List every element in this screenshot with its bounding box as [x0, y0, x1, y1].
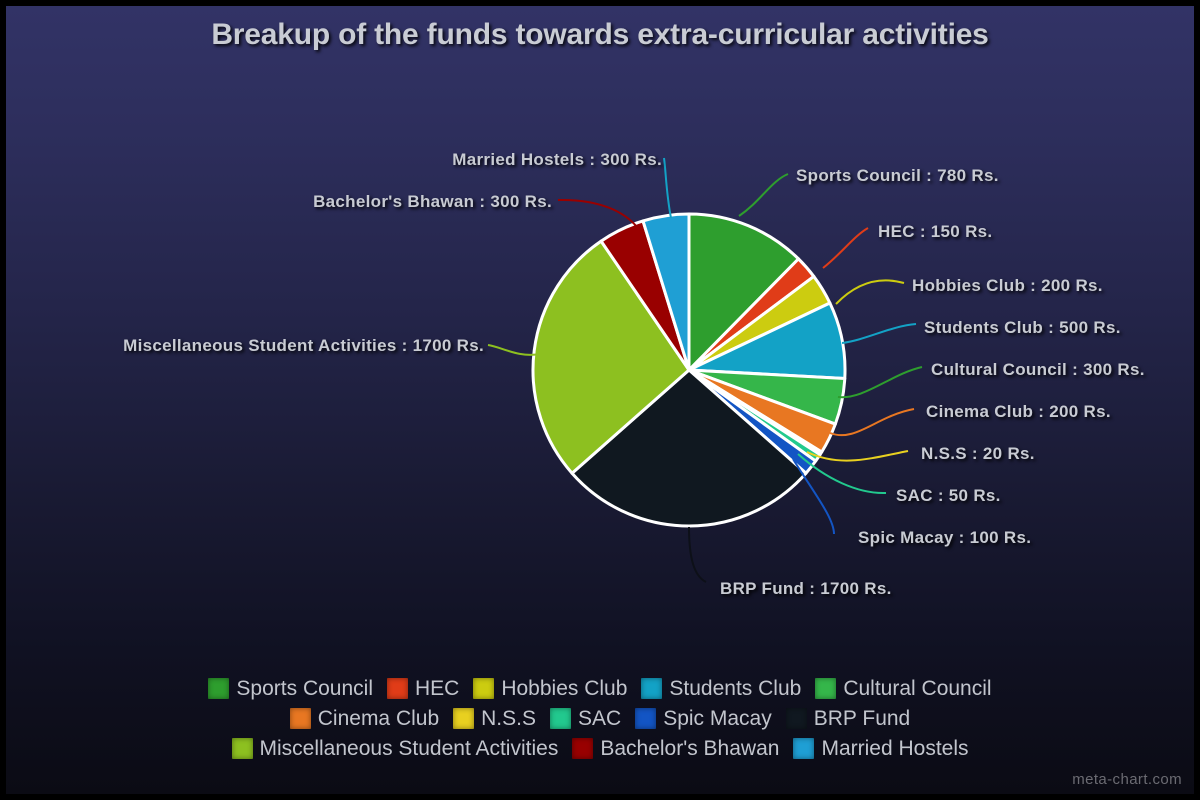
- watermark: meta-chart.com: [1072, 771, 1182, 788]
- legend-label: BRP Fund: [814, 708, 911, 729]
- callout-label-miscellaneous: Miscellaneous Student Activities : 1700 …: [123, 336, 484, 356]
- legend-swatch-icon: [290, 708, 311, 729]
- callout-line-cinema-club: [830, 409, 914, 435]
- legend-item[interactable]: HEC: [387, 678, 459, 699]
- callout-line-sports-council: [739, 174, 788, 216]
- callout-label-nss: N.S.S : 20 Rs.: [921, 444, 1035, 464]
- legend-swatch-icon: [232, 738, 253, 759]
- legend-item[interactable]: Bachelor's Bhawan: [572, 738, 779, 759]
- callout-label-sac: SAC : 50 Rs.: [896, 486, 1001, 506]
- legend-swatch-icon: [786, 708, 807, 729]
- callout-line-students-club: [842, 324, 916, 343]
- legend-swatch-icon: [473, 678, 494, 699]
- legend-swatch-icon: [572, 738, 593, 759]
- legend-swatch-icon: [793, 738, 814, 759]
- legend-item[interactable]: Hobbies Club: [473, 678, 627, 699]
- legend-item[interactable]: Spic Macay: [635, 708, 772, 729]
- legend-swatch-icon: [641, 678, 662, 699]
- callout-label-cultural-council: Cultural Council : 300 Rs.: [931, 360, 1145, 380]
- legend-label: N.S.S: [481, 708, 536, 729]
- legend-item[interactable]: Sports Council: [208, 678, 373, 699]
- legend-item[interactable]: N.S.S: [453, 708, 536, 729]
- callout-label-hobbies-club: Hobbies Club : 200 Rs.: [912, 276, 1103, 296]
- callout-line-married-hostels: [664, 158, 671, 218]
- legend-label: Cultural Council: [843, 678, 991, 699]
- legend-label: SAC: [578, 708, 621, 729]
- legend-row: Cinema ClubN.S.SSACSpic MacayBRP Fund: [290, 704, 910, 732]
- callout-line-spic-macay: [793, 459, 834, 534]
- chart-root: Breakup of the funds towards extra-curri…: [0, 0, 1200, 800]
- callout-line-brp-fund: [689, 527, 706, 582]
- legend-item[interactable]: Cinema Club: [290, 708, 439, 729]
- pie-slice-group: [533, 214, 845, 526]
- callout-label-sports-council: Sports Council : 780 Rs.: [796, 166, 999, 186]
- legend-label: Married Hostels: [821, 738, 968, 759]
- legend-label: HEC: [415, 678, 459, 699]
- legend-item[interactable]: Miscellaneous Student Activities: [232, 738, 559, 759]
- legend-label: Students Club: [669, 678, 801, 699]
- callout-label-brp-fund: BRP Fund : 1700 Rs.: [720, 579, 892, 599]
- legend-label: Bachelor's Bhawan: [600, 738, 779, 759]
- callout-label-cinema-club: Cinema Club : 200 Rs.: [926, 402, 1111, 422]
- legend-swatch-icon: [453, 708, 474, 729]
- legend-item[interactable]: Cultural Council: [815, 678, 991, 699]
- legend-item[interactable]: Students Club: [641, 678, 801, 699]
- legend-item[interactable]: Married Hostels: [793, 738, 968, 759]
- legend-label: Spic Macay: [663, 708, 772, 729]
- callout-line-miscellaneous: [488, 345, 540, 355]
- chart-canvas: Breakup of the funds towards extra-curri…: [6, 6, 1194, 794]
- callout-label-students-club: Students Club : 500 Rs.: [924, 318, 1121, 338]
- callout-line-hobbies-club: [836, 280, 904, 304]
- legend-row: Sports CouncilHECHobbies ClubStudents Cl…: [208, 674, 991, 702]
- legend-label: Hobbies Club: [501, 678, 627, 699]
- legend-swatch-icon: [550, 708, 571, 729]
- legend-swatch-icon: [815, 678, 836, 699]
- legend-swatch-icon: [208, 678, 229, 699]
- callout-label-bachelors-bhawan: Bachelor's Bhawan : 300 Rs.: [313, 192, 552, 212]
- legend-label: Cinema Club: [318, 708, 439, 729]
- callout-label-married-hostels: Married Hostels : 300 Rs.: [452, 150, 662, 170]
- chart-legend: Sports CouncilHECHobbies ClubStudents Cl…: [6, 674, 1194, 762]
- callout-line-cultural-council: [838, 367, 922, 397]
- callout-label-spic-macay: Spic Macay : 100 Rs.: [858, 528, 1031, 548]
- legend-label: Sports Council: [236, 678, 373, 699]
- legend-swatch-icon: [635, 708, 656, 729]
- legend-item[interactable]: BRP Fund: [786, 708, 911, 729]
- callout-line-hec: [823, 228, 868, 268]
- legend-row: Miscellaneous Student ActivitiesBachelor…: [232, 734, 969, 762]
- legend-swatch-icon: [387, 678, 408, 699]
- legend-label: Miscellaneous Student Activities: [260, 738, 559, 759]
- callout-label-hec: HEC : 150 Rs.: [878, 222, 992, 242]
- legend-item[interactable]: SAC: [550, 708, 621, 729]
